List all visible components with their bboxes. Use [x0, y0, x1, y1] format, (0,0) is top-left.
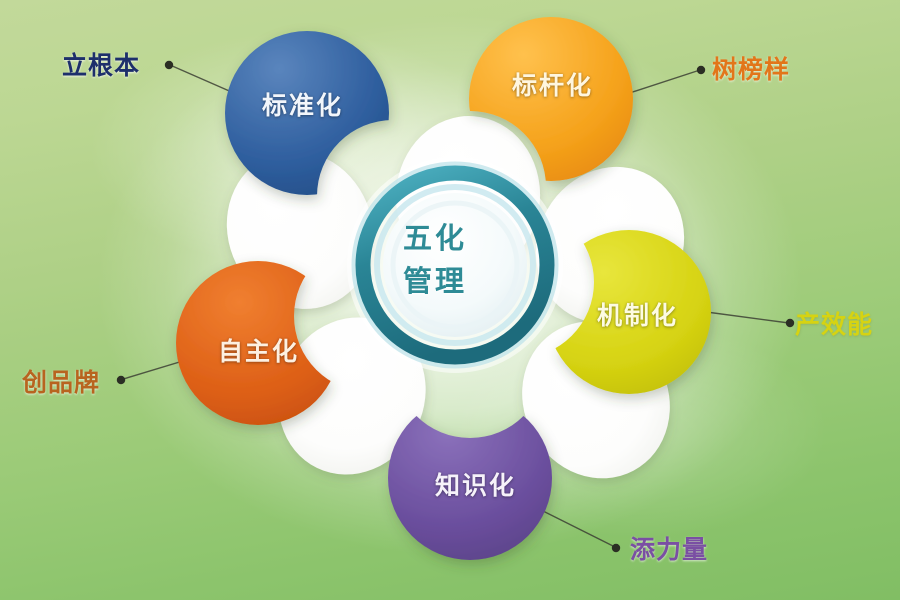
outer-label-root: 立根本 [62, 46, 140, 82]
dot-model [697, 66, 705, 74]
outer-label-model: 树榜样 [712, 50, 790, 86]
petal-label-standard: 标准化 [262, 86, 343, 122]
outer-label-efficiency: 产效能 [795, 305, 873, 341]
diagram-canvas: 五化 管理 标准化 标杆化 机制化 知识化 自主化 立根本 树榜样 产效能 创品… [0, 0, 900, 600]
diagram-graphics [0, 0, 900, 600]
petal-label-mechanism: 机制化 [597, 296, 678, 332]
dot-power [612, 544, 620, 552]
dot-brand [117, 376, 125, 384]
dot-root [165, 61, 173, 69]
outer-label-brand: 创品牌 [22, 363, 100, 399]
dot-efficiency [786, 319, 794, 327]
center-title-line2: 管理 [403, 258, 467, 300]
petal-label-autonomy: 自主化 [218, 332, 299, 368]
petal-label-knowledge: 知识化 [435, 466, 516, 502]
center-title-line1: 五化 [403, 215, 467, 257]
petal-label-benchmark: 标杆化 [512, 66, 593, 102]
outer-label-power: 添力量 [630, 530, 708, 566]
